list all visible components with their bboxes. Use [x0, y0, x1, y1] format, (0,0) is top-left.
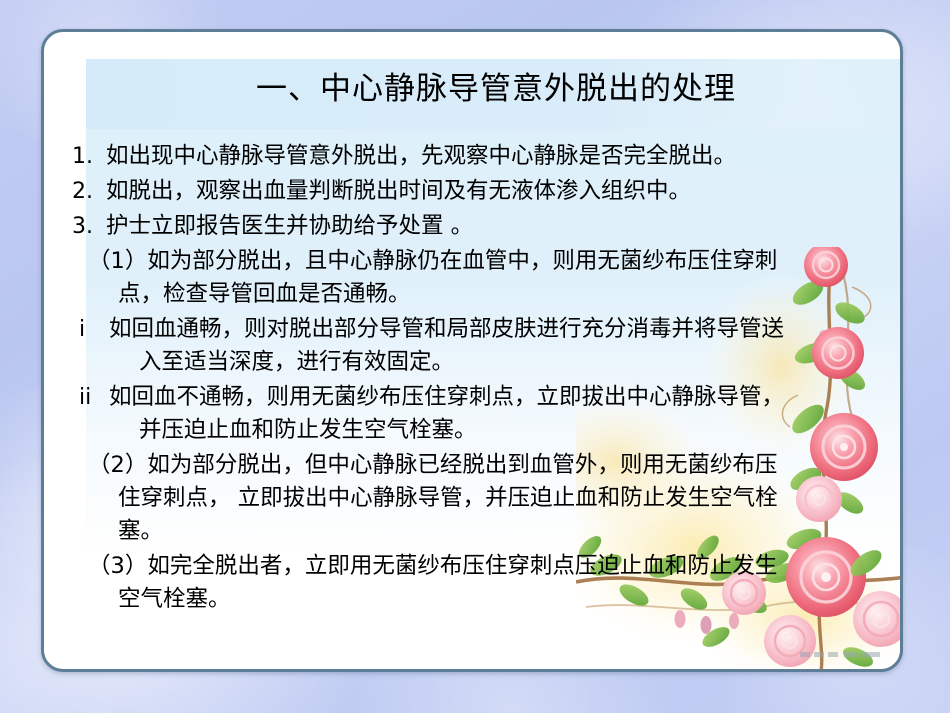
- list-item-marker: i: [68, 313, 109, 346]
- list-item-text: 护士立即报告医生并协助给予处置 。: [106, 210, 888, 243]
- list-item-marker: 1.: [68, 140, 106, 173]
- list-item-text: 如出现中心静脉导管意外脱出，先观察中心静脉是否完全脱出。: [106, 140, 888, 173]
- list-item-text-first-line: 如脱出，观察出血量判断脱出时间及有无液体渗入组织中。: [106, 175, 888, 208]
- list-item-text-first-line: （3）如完全脱出者，立即用无菌纱布压住穿刺点压迫止血和防止发生: [88, 550, 888, 583]
- slide: 一、中心静脉导管意外脱出的处理 1.如出现中心静脉导管意外脱出，先观察中心静脉是…: [0, 0, 950, 713]
- list-item: （1）如为部分脱出，且中心静脉仍在血管中，则用无菌纱布压住穿刺点，检查导管回血是…: [68, 245, 888, 311]
- list-item-text-continuation: 住穿刺点， 立即拔出中心静脉导管，并压迫止血和防止发生空气栓 塞。: [88, 482, 888, 548]
- list-item-text: 如脱出，观察出血量判断脱出时间及有无液体渗入组织中。: [106, 175, 888, 208]
- list-item-text: （1）如为部分脱出，且中心静脉仍在血管中，则用无菌纱布压住穿刺点，检查导管回血是…: [68, 245, 888, 311]
- list-item-text-continuation: 空气栓塞。: [88, 583, 888, 616]
- corner-marks-icon: [798, 647, 884, 661]
- list-item-text-first-line: 护士立即报告医生并协助给予处置 。: [106, 210, 888, 243]
- list-item: 2.如脱出，观察出血量判断脱出时间及有无液体渗入组织中。: [68, 175, 888, 208]
- list-item-marker: ii: [68, 381, 109, 414]
- list-item: i如回血通畅，则对脱出部分导管和局部皮肤进行充分消毒并将导管送入至适当深度，进行…: [68, 313, 888, 379]
- content-list: 1.如出现中心静脉导管意外脱出，先观察中心静脉是否完全脱出。2.如脱出，观察出血…: [68, 140, 888, 618]
- list-item-text: （3）如完全脱出者，立即用无菌纱布压住穿刺点压迫止血和防止发生空气栓塞。: [68, 550, 888, 616]
- list-item-text-first-line: （2）如为部分脱出，但中心静脉已经脱出到血管外，则用无菌纱布压: [88, 449, 888, 482]
- list-item-text: （2）如为部分脱出，但中心静脉已经脱出到血管外，则用无菌纱布压住穿刺点， 立即拔…: [68, 449, 888, 548]
- list-item-text-continuation: 入至适当深度，进行有效固定。: [109, 346, 888, 379]
- slide-title: 一、中心静脉导管意外脱出的处理: [86, 62, 903, 116]
- list-item-text-continuation: 并压迫止血和防止发生空气栓塞。: [109, 414, 888, 447]
- list-item: （3）如完全脱出者，立即用无菌纱布压住穿刺点压迫止血和防止发生空气栓塞。: [68, 550, 888, 616]
- list-item: ii如回血不通畅，则用无菌纱布压住穿刺点，立即拔出中心静脉导管，并压迫止血和防止…: [68, 381, 888, 447]
- list-item: 1.如出现中心静脉导管意外脱出，先观察中心静脉是否完全脱出。: [68, 140, 888, 173]
- list-item-text-first-line: 如回血不通畅，则用无菌纱布压住穿刺点，立即拔出中心静脉导管，: [109, 381, 888, 414]
- list-item-text: 如回血通畅，则对脱出部分导管和局部皮肤进行充分消毒并将导管送入至适当深度，进行有…: [109, 313, 888, 379]
- slide-card: 一、中心静脉导管意外脱出的处理 1.如出现中心静脉导管意外脱出，先观察中心静脉是…: [41, 29, 903, 672]
- list-item: 3.护士立即报告医生并协助给予处置 。: [68, 210, 888, 243]
- list-item-text-continuation: 点，检查导管回血是否通畅。: [88, 278, 888, 311]
- list-item-text-first-line: 如回血通畅，则对脱出部分导管和局部皮肤进行充分消毒并将导管送: [109, 313, 888, 346]
- list-item-text-first-line: （1）如为部分脱出，且中心静脉仍在血管中，则用无菌纱布压住穿刺: [88, 245, 888, 278]
- list-item-marker: 2.: [68, 175, 106, 208]
- list-item-text-first-line: 如出现中心静脉导管意外脱出，先观察中心静脉是否完全脱出。: [106, 140, 888, 173]
- list-item: （2）如为部分脱出，但中心静脉已经脱出到血管外，则用无菌纱布压住穿刺点， 立即拔…: [68, 449, 888, 548]
- list-item-text: 如回血不通畅，则用无菌纱布压住穿刺点，立即拔出中心静脉导管，并压迫止血和防止发生…: [109, 381, 888, 447]
- list-item-marker: 3.: [68, 210, 106, 243]
